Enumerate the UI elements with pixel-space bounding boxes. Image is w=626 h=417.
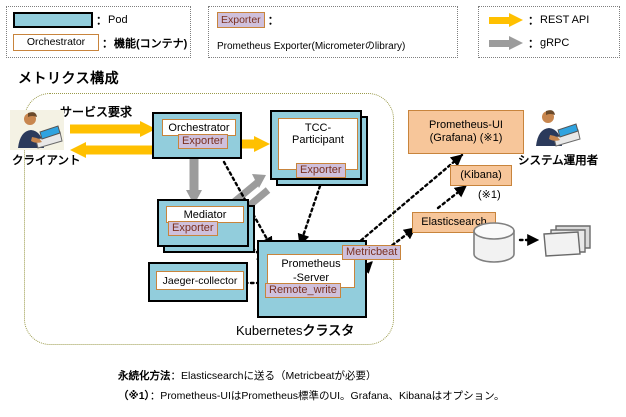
badge-exporter-orchestrator[interactable]: Exporter (178, 134, 228, 149)
badge-exporter-tcc[interactable]: Exporter (296, 163, 346, 178)
prometheus-ui-box[interactable]: Prometheus-UI (Grafana) (※1) (408, 110, 524, 154)
legend-colon: ： (96, 12, 107, 28)
legend-colon: ： (268, 12, 279, 28)
service-request-label: サービス要求 (60, 103, 132, 120)
exporter-swatch: Exporter (217, 12, 265, 28)
footnote-2: （※1）：Prometheus-UIはPrometheus標準のUI。Grafa… (118, 388, 505, 403)
legend-exporter-label: Prometheus Exporter(Micrometerのlibrary) (217, 37, 405, 52)
legend-colon: ： (528, 35, 539, 51)
footnote-1-bold: 永続化方法 (118, 370, 171, 382)
cylinder-database-icon (468, 222, 520, 264)
pod-jaeger-collector[interactable]: Jaeger-collector (148, 262, 248, 302)
legend-colon: ： (528, 12, 539, 28)
grpc-arrow-icon (489, 36, 525, 50)
page-title: メトリクス構成 (18, 68, 119, 88)
rest-api-arrow-icon (489, 13, 525, 27)
pod-swatch (13, 12, 93, 28)
container-jaeger-collector[interactable]: Jaeger-collector (156, 271, 244, 290)
legend-pod-function: ： Pod Orchestrator ： 機能(コンテナ) (6, 6, 191, 58)
badge-metricbeat[interactable]: Metricbeat (342, 245, 401, 260)
orchestrator-swatch: Orchestrator (13, 34, 99, 51)
kubernetes-cluster-label: Kubernetesクラスタ (236, 320, 354, 339)
legend-arrows: ： REST API ： gRPC (478, 6, 620, 58)
legend-function-label: 機能(コンテナ) (114, 35, 187, 51)
kibana-note: (※1) (478, 188, 501, 201)
footnote-2-rest: ：Prometheus-UIはPrometheus標準のUI。Grafana、K… (150, 390, 505, 402)
footnote-1: 永続化方法：Elasticsearchに送る（Metricbeatが必要） (118, 368, 376, 383)
badge-remote-write[interactable]: Remote_write (265, 283, 341, 298)
footnote-1-rest: ：Elasticsearchに送る（Metricbeatが必要） (171, 370, 377, 382)
cluster-label-jp: クラスタ (303, 323, 355, 338)
footnote-2-bold: （※1） (118, 390, 150, 402)
arrow-elasticsearch-to-kibana (438, 186, 466, 208)
operator-person-laptop-icon (528, 108, 582, 148)
client-label: クライアント (12, 152, 81, 168)
badge-exporter-mediator[interactable]: Exporter (168, 221, 218, 236)
legend-grpc-label: gRPC (540, 37, 569, 49)
client-person-laptop-icon (10, 110, 64, 150)
prometheus-ui-line2: (Grafana) (※1) (430, 132, 503, 145)
stacked-documents-icon (540, 222, 596, 262)
legend-pod-label: Pod (108, 14, 128, 26)
cluster-label-en: Kubernetes (236, 323, 303, 338)
legend-exporter: Exporter ： Prometheus Exporter(Micromete… (208, 6, 458, 58)
legend-rest-api-label: REST API (540, 14, 589, 26)
kibana-box[interactable]: (Kibana) (450, 165, 512, 186)
legend-colon: ： (102, 35, 113, 51)
prometheus-server-line1: Prometheus (281, 257, 340, 271)
operator-label: システム運用者 (518, 152, 598, 168)
prometheus-ui-line1: Prometheus-UI (429, 119, 503, 132)
